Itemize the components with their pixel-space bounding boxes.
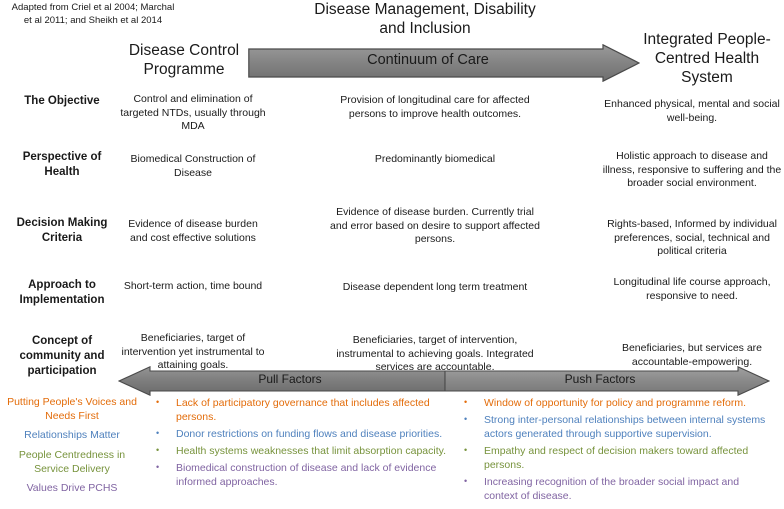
list-item-text: Lack of participatory governance that in… — [176, 396, 452, 424]
list-item-text: Strong inter-personal relationships betw… — [484, 413, 770, 441]
list-item-text: Biomedical construction of disease and l… — [176, 461, 452, 489]
table-row: The Objective Control and elimination of… — [0, 88, 784, 148]
cell-perspective-integrated-health-system: Holistic approach to disease and illness… — [600, 150, 784, 191]
list-item-text: Donor restrictions on funding flows and … — [176, 427, 452, 441]
pull-factors-bullet-list: • Lack of participatory governance that … — [152, 396, 452, 492]
cell-decision-disease-management: Evidence of disease burden. Currently tr… — [330, 206, 540, 247]
bullet-dot-icon: • — [152, 427, 176, 441]
list-item-text: Increasing recognition of the broader so… — [484, 475, 770, 503]
cell-decision-disease-control-programme: Evidence of disease burden and cost effe… — [118, 218, 268, 245]
bullet-dot-icon: • — [460, 444, 484, 458]
cell-objective-disease-control-programme: Control and elimination of targeted NTDs… — [118, 93, 268, 134]
cell-decision-integrated-health-system: Rights-based, Informed by individual pre… — [600, 218, 784, 259]
list-item: • Health systems weaknesses that limit a… — [152, 444, 452, 458]
cell-approach-integrated-health-system: Longitudinal life course approach, respo… — [600, 276, 784, 303]
list-item: • Window of opportunity for policy and p… — [460, 396, 770, 410]
bullet-dot-icon: • — [460, 475, 484, 489]
bullet-dot-icon: • — [152, 461, 176, 475]
bullet-dot-icon: • — [460, 396, 484, 410]
cell-approach-disease-management: Disease dependent long term treatment — [330, 281, 540, 295]
push-factors-label: Push Factors — [460, 372, 740, 386]
source-attribution-note: Adapted from Criel et al 2004; Marchal e… — [8, 2, 178, 27]
list-item: Values Drive PCHS — [2, 482, 142, 496]
list-item: • Empathy and respect of decision makers… — [460, 444, 770, 472]
list-item-text: Window of opportunity for policy and pro… — [484, 396, 770, 410]
list-item: • Donor restrictions on funding flows an… — [152, 427, 452, 441]
pull-factors-label: Pull Factors — [150, 372, 430, 386]
column-heading-disease-control-programme: Disease Control Programme — [104, 42, 264, 80]
table-row: Decision Making Criteria Evidence of dis… — [0, 206, 784, 270]
continuum-of-care-label: Continuum of Care — [248, 52, 608, 68]
list-item: • Lack of participatory governance that … — [152, 396, 452, 424]
table-row: Approach to Implementation Short-term ac… — [0, 270, 784, 324]
bullet-dot-icon: • — [460, 413, 484, 427]
comparison-matrix: The Objective Control and elimination of… — [0, 88, 784, 392]
list-item: People Centredness in Service Delivery — [2, 449, 142, 476]
row-label-decision-making-criteria: Decision Making Criteria — [6, 216, 118, 246]
bullet-dot-icon: • — [152, 396, 176, 410]
list-item: • Strong inter-personal relationships be… — [460, 413, 770, 441]
column-heading-integrated-people-centred-health-system: Integrated People-Centred Health System — [630, 31, 784, 88]
bullet-dot-icon: • — [152, 444, 176, 458]
list-item-text: Health systems weaknesses that limit abs… — [176, 444, 452, 458]
cell-perspective-disease-control-programme: Biomedical Construction of Disease — [118, 153, 268, 180]
push-factors-bullet-list: • Window of opportunity for policy and p… — [460, 396, 770, 506]
list-item: • Increasing recognition of the broader … — [460, 475, 770, 503]
cell-objective-integrated-health-system: Enhanced physical, mental and social wel… — [600, 98, 784, 125]
list-item-text: Empathy and respect of decision makers t… — [484, 444, 770, 472]
cell-approach-disease-control-programme: Short-term action, time bound — [118, 280, 268, 294]
row-label-perspective-of-health: Perspective of Health — [6, 150, 118, 180]
list-item: Relationships Matter — [2, 429, 142, 443]
pchs-principles-list: Putting People's Voices and Needs First … — [2, 396, 142, 502]
cell-objective-disease-management: Provision of longitudinal care for affec… — [330, 94, 540, 121]
cell-perspective-disease-management: Predominantly biomedical — [330, 153, 540, 167]
diagram-canvas: Adapted from Criel et al 2004; Marchal e… — [0, 0, 784, 509]
table-row: Perspective of Health Biomedical Constru… — [0, 148, 784, 206]
column-heading-disease-management-disability-inclusion: Disease Management, Disability and Inclu… — [306, 1, 544, 39]
row-label-concept-of-community-and-participation: Concept of community and participation — [6, 334, 118, 380]
list-item: • Biomedical construction of disease and… — [152, 461, 452, 489]
list-item: Putting People's Voices and Needs First — [2, 396, 142, 423]
row-label-approach-to-implementation: Approach to Implementation — [6, 278, 118, 308]
row-label-the-objective: The Objective — [6, 94, 118, 109]
